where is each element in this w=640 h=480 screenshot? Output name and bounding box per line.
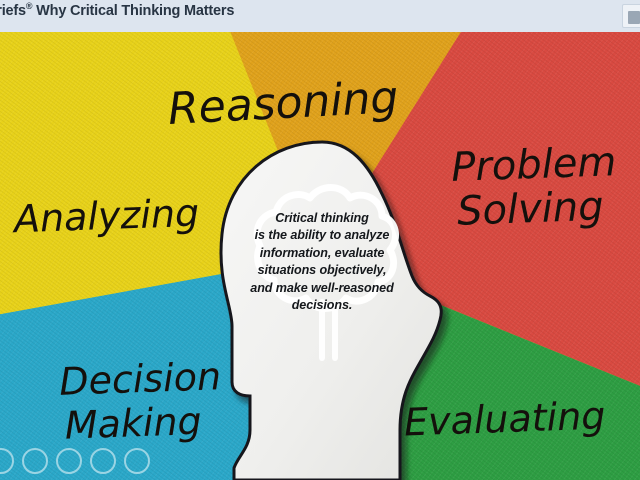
quote-line-3: information, evaluate xyxy=(260,246,385,260)
pager-dot-5[interactable] xyxy=(124,448,150,474)
quote-text: Critical thinking is the ability to anal… xyxy=(236,210,408,314)
label-problem-solving: Problem Solving xyxy=(451,142,619,232)
quote-line-6: decisions. xyxy=(292,298,353,312)
presentation-viewer: Briefs® Why Critical Thinking Matters io… xyxy=(0,0,640,480)
quote-line-1: Critical thinking xyxy=(275,211,368,225)
quote-line-2: is the ability to analyze xyxy=(255,228,390,242)
page-title: Briefs® Why Critical Thinking Matters xyxy=(0,1,234,19)
pager-dot-3[interactable] xyxy=(56,448,82,474)
pager-dot-4[interactable] xyxy=(90,448,116,474)
pager-dot-2[interactable] xyxy=(22,448,48,474)
label-decision-making: Decision Making xyxy=(59,357,224,445)
quote-line-4: situations objectively, xyxy=(258,263,387,277)
slide-canvas: Reasoning Analyzing Problem Solving Deci… xyxy=(0,32,640,480)
label-decision-making-line1: Decision xyxy=(59,354,222,404)
page-title-brand: Briefs xyxy=(0,3,26,19)
header-bar: Briefs® Why Critical Thinking Matters io… xyxy=(0,0,640,32)
scrollbar-thumb[interactable] xyxy=(622,4,640,28)
label-problem-solving-line2: Solving xyxy=(442,186,618,232)
pager-dots xyxy=(0,448,150,474)
scrollbar-thumb-glyph xyxy=(628,11,640,24)
label-decision-making-line2: Making xyxy=(64,401,223,444)
label-analyzing: Analyzing xyxy=(13,194,199,238)
page-title-rest: Why Critical Thinking Matters xyxy=(32,3,234,19)
quote-line-5: and make well-reasoned xyxy=(250,281,393,295)
label-reasoning: Reasoning xyxy=(167,76,399,132)
pager-dot-1[interactable] xyxy=(0,448,14,474)
